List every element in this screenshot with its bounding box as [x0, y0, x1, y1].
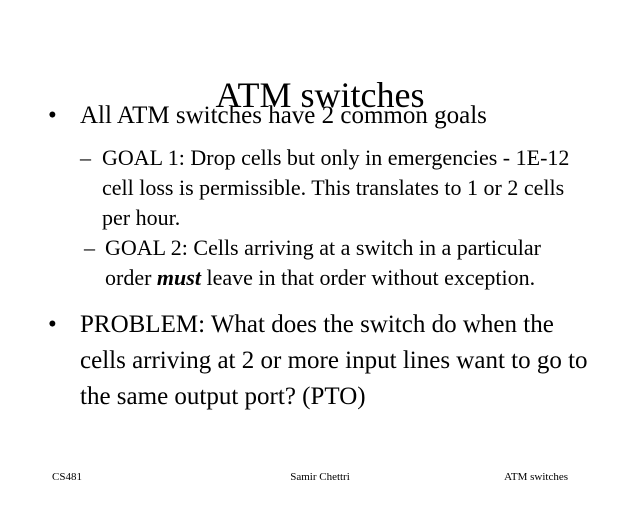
bullet-text: All ATM switches have 2 common goals — [80, 102, 487, 129]
emphasized-word: must — [157, 265, 201, 290]
slide-footer: CS481 Samir Chettri ATM switches — [0, 470, 640, 490]
bullet-item-goal-1: – GOAL 1: Drop cells but only in emergen… — [0, 143, 640, 233]
slide-body: • All ATM switches have 2 common goals –… — [0, 98, 640, 415]
bullet-text: PROBLEM: What does the switch do when th… — [80, 311, 588, 410]
bullet-text-after-emphasis: leave in that order without exception. — [201, 265, 535, 290]
footer-topic: ATM switches — [504, 470, 568, 484]
spacer — [0, 134, 640, 143]
bullet-item-problem: • PROBLEM: What does the switch do when … — [0, 307, 640, 415]
bullet-item-goal-2: – GOAL 2: Cells arriving at a switch in … — [0, 233, 640, 293]
bullet-marker-icon: • — [48, 98, 57, 134]
bullet-text: GOAL 1: Drop cells but only in emergenci… — [102, 145, 569, 230]
dash-marker-icon: – — [80, 143, 91, 173]
dash-marker-icon: – — [84, 233, 95, 263]
bullet-marker-icon: • — [48, 307, 57, 343]
spacer — [0, 293, 640, 307]
bullet-item-goals-intro: • All ATM switches have 2 common goals — [0, 98, 640, 134]
slide: ATM switches • All ATM switches have 2 c… — [0, 0, 640, 512]
